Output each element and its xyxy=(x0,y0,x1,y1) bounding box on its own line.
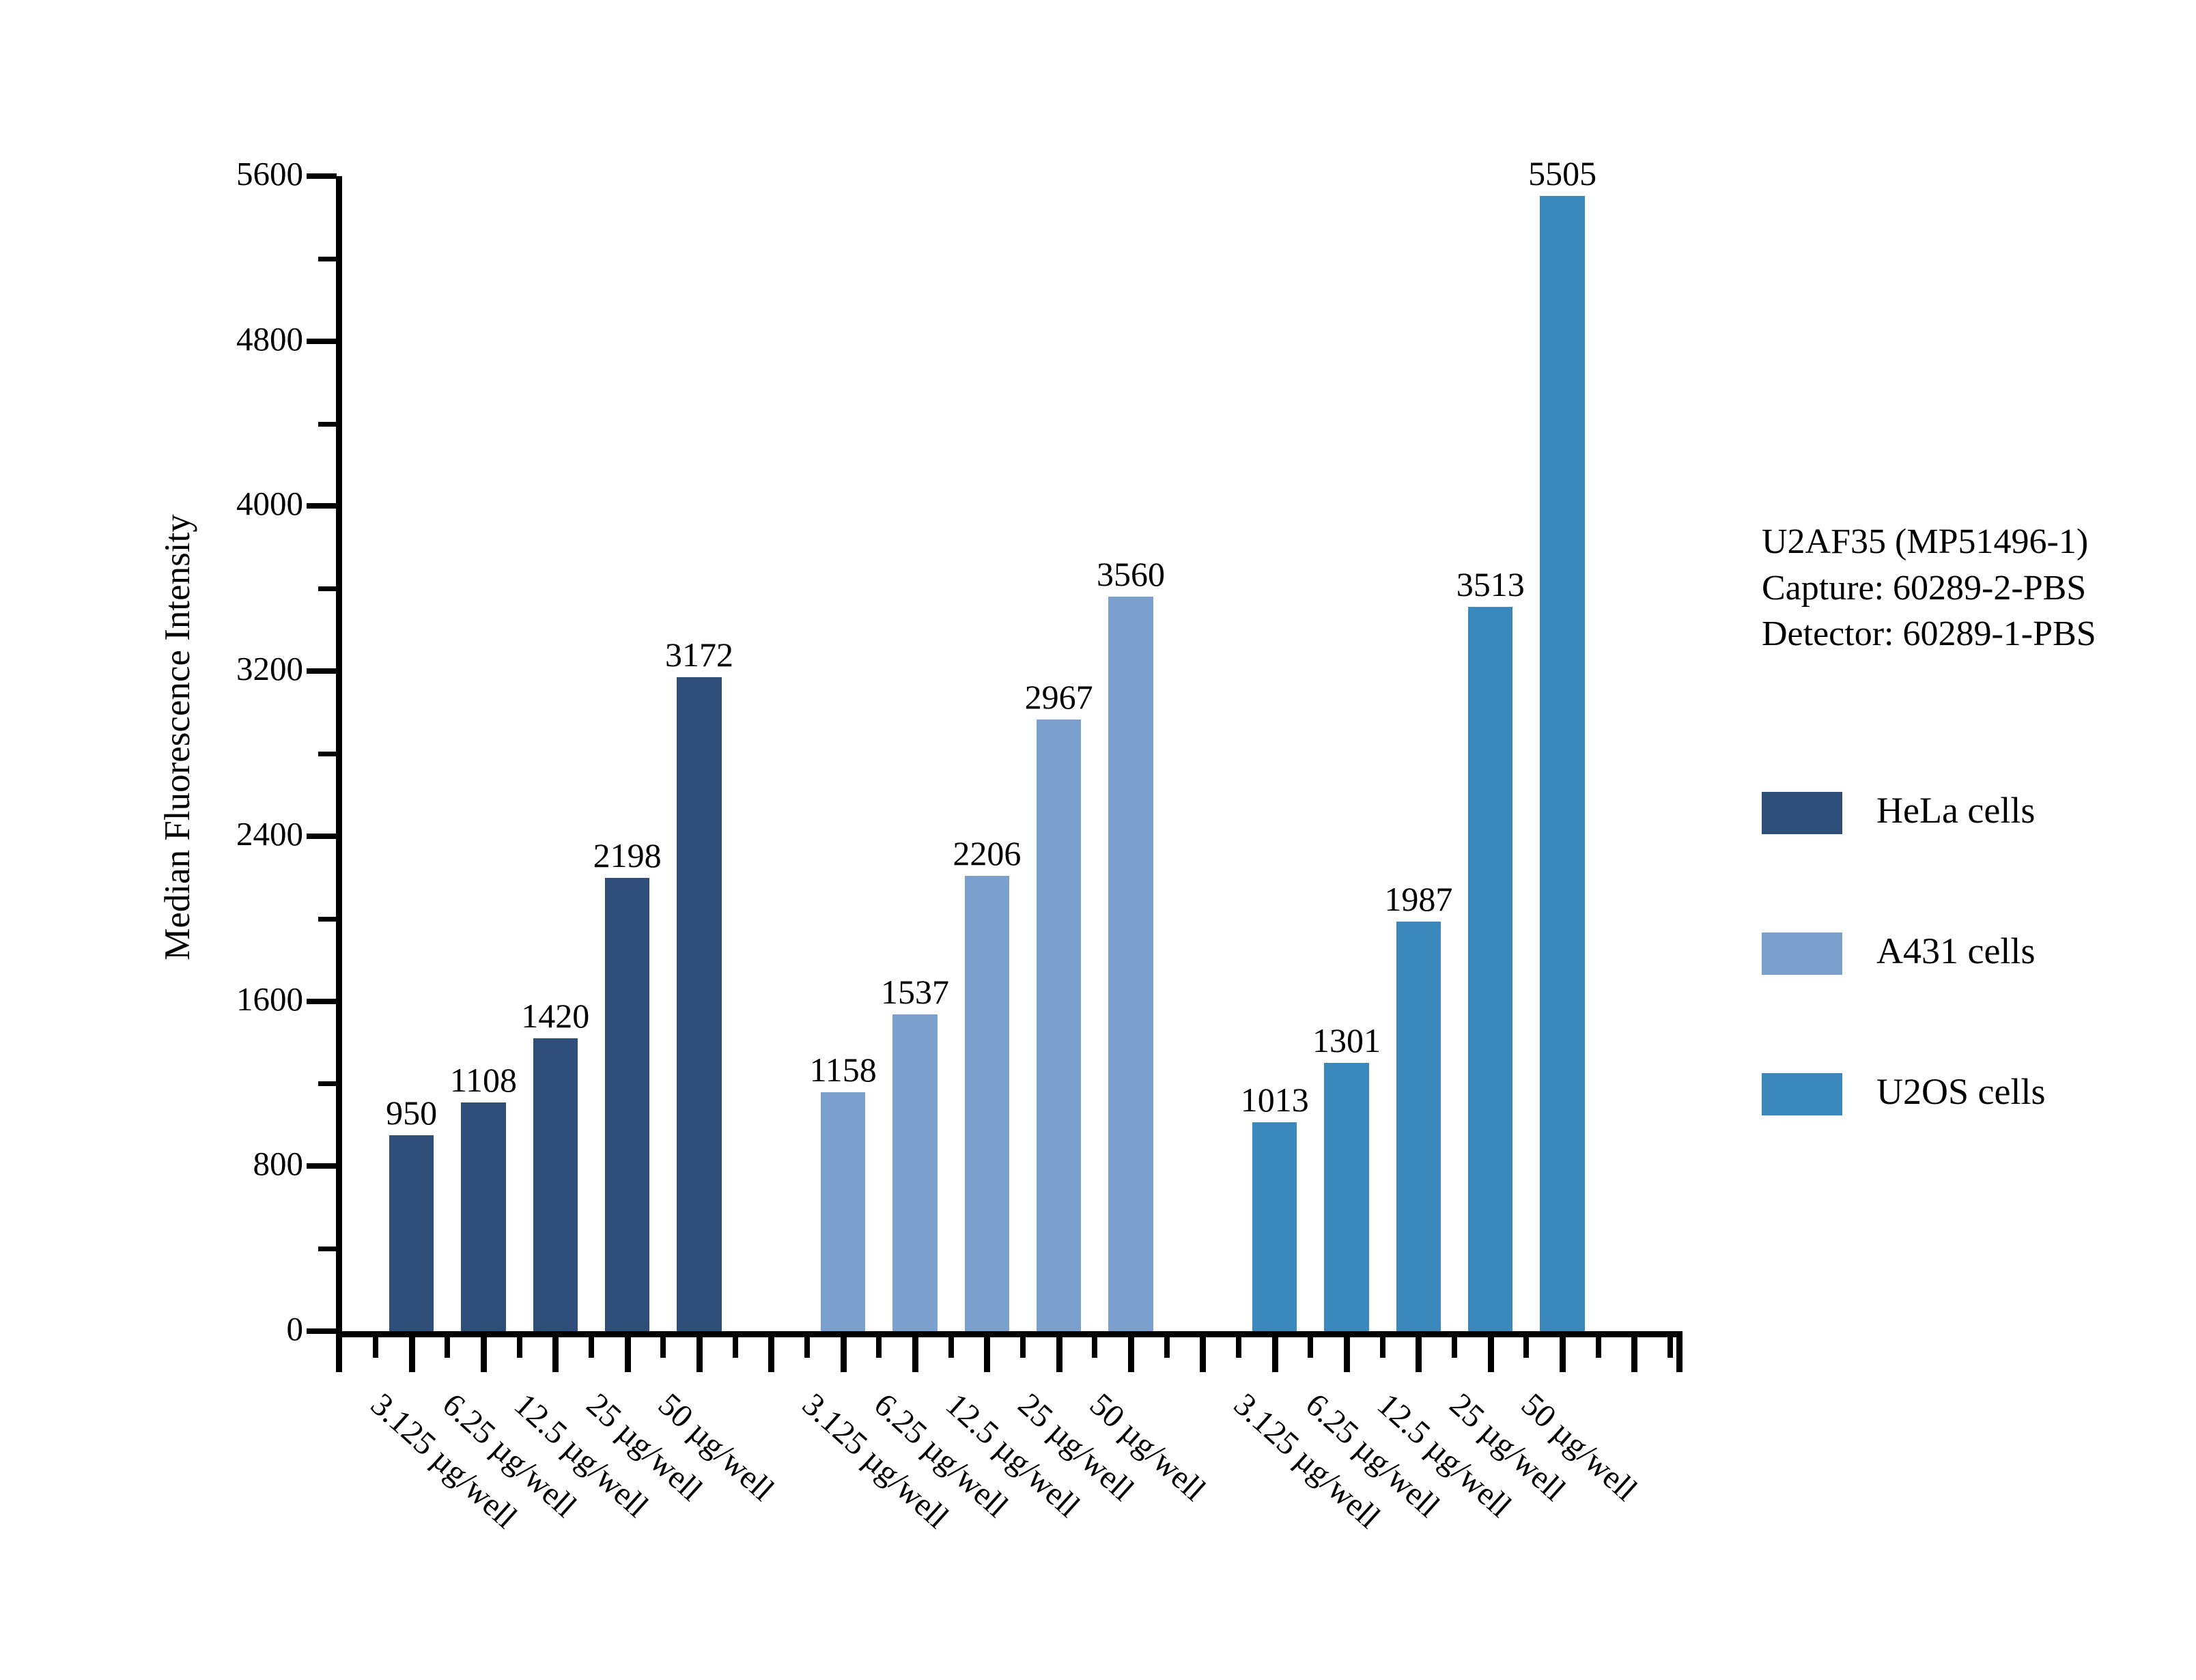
bar: 1158 xyxy=(821,1092,865,1331)
y-tick-major xyxy=(307,999,337,1004)
bar-value-label: 1158 xyxy=(810,1053,877,1087)
x-tick-major xyxy=(1488,1337,1494,1372)
x-tick-minor xyxy=(1020,1337,1026,1358)
y-tick-minor xyxy=(318,917,337,922)
bar-value-label: 3560 xyxy=(1097,557,1165,591)
bar-rect xyxy=(1396,922,1441,1331)
bar: 1301 xyxy=(1324,1063,1368,1331)
bar: 3513 xyxy=(1468,607,1512,1331)
y-tick-major xyxy=(307,503,337,509)
annotation-line-1: U2AF35 (MP51496-1) xyxy=(1762,519,2096,565)
y-tick-label: 5600 xyxy=(236,157,303,190)
x-tick-major xyxy=(768,1337,774,1372)
annotation-line-2: Capture: 60289-2-PBS xyxy=(1762,565,2096,612)
x-tick-minor xyxy=(804,1337,810,1358)
x-tick-minor xyxy=(373,1337,378,1358)
y-tick-label: 2400 xyxy=(236,817,303,851)
legend-label: HeLa cells xyxy=(1876,789,2035,831)
bar-value-label: 1301 xyxy=(1312,1023,1381,1057)
legend-label: A431 cells xyxy=(1876,930,2035,972)
bar: 1108 xyxy=(461,1102,505,1331)
y-tick-major xyxy=(307,1163,337,1169)
x-tick-minor xyxy=(1452,1337,1457,1358)
bar: 2198 xyxy=(605,878,649,1331)
bar: 1420 xyxy=(533,1038,578,1331)
bar-rect xyxy=(1540,196,1584,1331)
legend-swatch xyxy=(1762,932,1842,975)
bars-area: 9501108142021983172115815372206296735601… xyxy=(336,176,1683,1331)
y-tick-label: 4800 xyxy=(236,322,303,356)
bar-value-label: 950 xyxy=(386,1096,437,1130)
x-tick-minor xyxy=(876,1337,882,1358)
y-tick-major xyxy=(307,1328,337,1334)
x-tick-minor xyxy=(1308,1337,1313,1358)
bar-value-label: 1013 xyxy=(1241,1083,1309,1117)
x-tick-major xyxy=(1631,1337,1637,1372)
bar-rect xyxy=(1252,1122,1297,1331)
legend-swatch xyxy=(1762,792,1842,834)
x-tick-major xyxy=(1056,1337,1062,1372)
x-tick-major xyxy=(481,1337,487,1372)
x-tick-major xyxy=(409,1337,415,1372)
bar-rect xyxy=(965,876,1009,1331)
x-tick-minor xyxy=(660,1337,666,1358)
y-tick-label: 3200 xyxy=(236,652,303,685)
x-tick-minor xyxy=(1092,1337,1097,1358)
bar: 2967 xyxy=(1037,720,1081,1331)
bar: 950 xyxy=(389,1135,434,1331)
bar-rect xyxy=(1108,597,1153,1331)
x-tick-minor xyxy=(1523,1337,1529,1358)
x-tick-major xyxy=(1676,1337,1683,1372)
x-tick-major xyxy=(696,1337,703,1372)
x-tick-minor xyxy=(1667,1337,1673,1358)
x-tick-minor xyxy=(445,1337,450,1358)
bar-value-label: 1108 xyxy=(450,1063,517,1097)
legend-label: U2OS cells xyxy=(1876,1070,2045,1113)
x-axis-line xyxy=(336,1331,1683,1337)
y-tick-major xyxy=(307,834,337,839)
legend-swatch xyxy=(1762,1073,1842,1115)
bar-rect xyxy=(1468,607,1512,1331)
y-tick-minor xyxy=(318,257,337,261)
x-tick-major xyxy=(1344,1337,1350,1372)
y-tick-major xyxy=(307,173,337,179)
x-tick-minor xyxy=(589,1337,594,1358)
x-tick-major xyxy=(625,1337,631,1372)
bar: 1987 xyxy=(1396,922,1441,1331)
x-tick-major xyxy=(912,1337,918,1372)
x-tick-major xyxy=(841,1337,847,1372)
bar-rect xyxy=(677,677,721,1331)
x-tick-major xyxy=(552,1337,559,1372)
bar-value-label: 1987 xyxy=(1384,882,1452,916)
x-tick-major xyxy=(1560,1337,1566,1372)
y-tick-major xyxy=(307,668,337,674)
y-tick-label: 4000 xyxy=(236,487,303,520)
bar-value-label: 2198 xyxy=(593,838,662,872)
bar-value-label: 1420 xyxy=(521,999,589,1033)
x-tick-minor xyxy=(517,1337,522,1358)
bar-value-label: 2206 xyxy=(953,836,1021,870)
y-tick-minor xyxy=(318,752,337,756)
bar: 2206 xyxy=(965,876,1009,1331)
x-tick-major xyxy=(1272,1337,1278,1372)
bar: 3560 xyxy=(1108,597,1153,1331)
bar-value-label: 2967 xyxy=(1025,680,1093,714)
x-tick-minor xyxy=(733,1337,738,1358)
y-tick-label: 1600 xyxy=(236,982,303,1016)
bar-rect xyxy=(461,1102,505,1331)
bar-rect xyxy=(892,1014,937,1331)
bar: 1013 xyxy=(1252,1122,1297,1331)
bar-rect xyxy=(1324,1063,1368,1331)
chart-annotation: U2AF35 (MP51496-1) Capture: 60289-2-PBS … xyxy=(1762,519,2096,657)
bar-value-label: 3172 xyxy=(665,638,733,672)
bar-rect xyxy=(1037,720,1081,1331)
y-tick-minor xyxy=(318,1247,337,1251)
y-tick-major xyxy=(307,339,337,344)
x-tick-major xyxy=(1128,1337,1134,1372)
bar-value-label: 5505 xyxy=(1528,156,1596,190)
bar-rect xyxy=(605,878,649,1331)
x-tick-minor xyxy=(1236,1337,1241,1358)
y-tick-label: 800 xyxy=(253,1147,304,1180)
y-axis-title: Median Fluorescence Intensity xyxy=(157,464,198,1010)
x-tick-minor xyxy=(1380,1337,1385,1358)
bar: 3172 xyxy=(677,677,721,1331)
y-tick-label: 0 xyxy=(287,1312,304,1346)
bar: 1537 xyxy=(892,1014,937,1331)
x-tick-major xyxy=(1200,1337,1206,1372)
y-tick-minor xyxy=(318,422,337,427)
bar-value-label: 3513 xyxy=(1456,567,1525,601)
y-tick-minor xyxy=(318,586,337,591)
bar: 5505 xyxy=(1540,196,1584,1331)
x-tick-major xyxy=(1416,1337,1422,1372)
annotation-line-3: Detector: 60289-1-PBS xyxy=(1762,611,2096,657)
x-tick-minor xyxy=(1164,1337,1170,1358)
bar-chart: Median Fluorescence Intensity 0800160024… xyxy=(0,0,2196,1680)
x-tick-minor xyxy=(948,1337,954,1358)
x-tick-minor xyxy=(1596,1337,1601,1358)
bar-rect xyxy=(389,1135,434,1331)
y-tick-minor xyxy=(318,1081,337,1086)
x-tick-major xyxy=(336,1337,342,1372)
x-tick-major xyxy=(984,1337,990,1372)
bar-rect xyxy=(821,1092,865,1331)
bar-rect xyxy=(533,1038,578,1331)
bar-value-label: 1537 xyxy=(881,975,949,1009)
